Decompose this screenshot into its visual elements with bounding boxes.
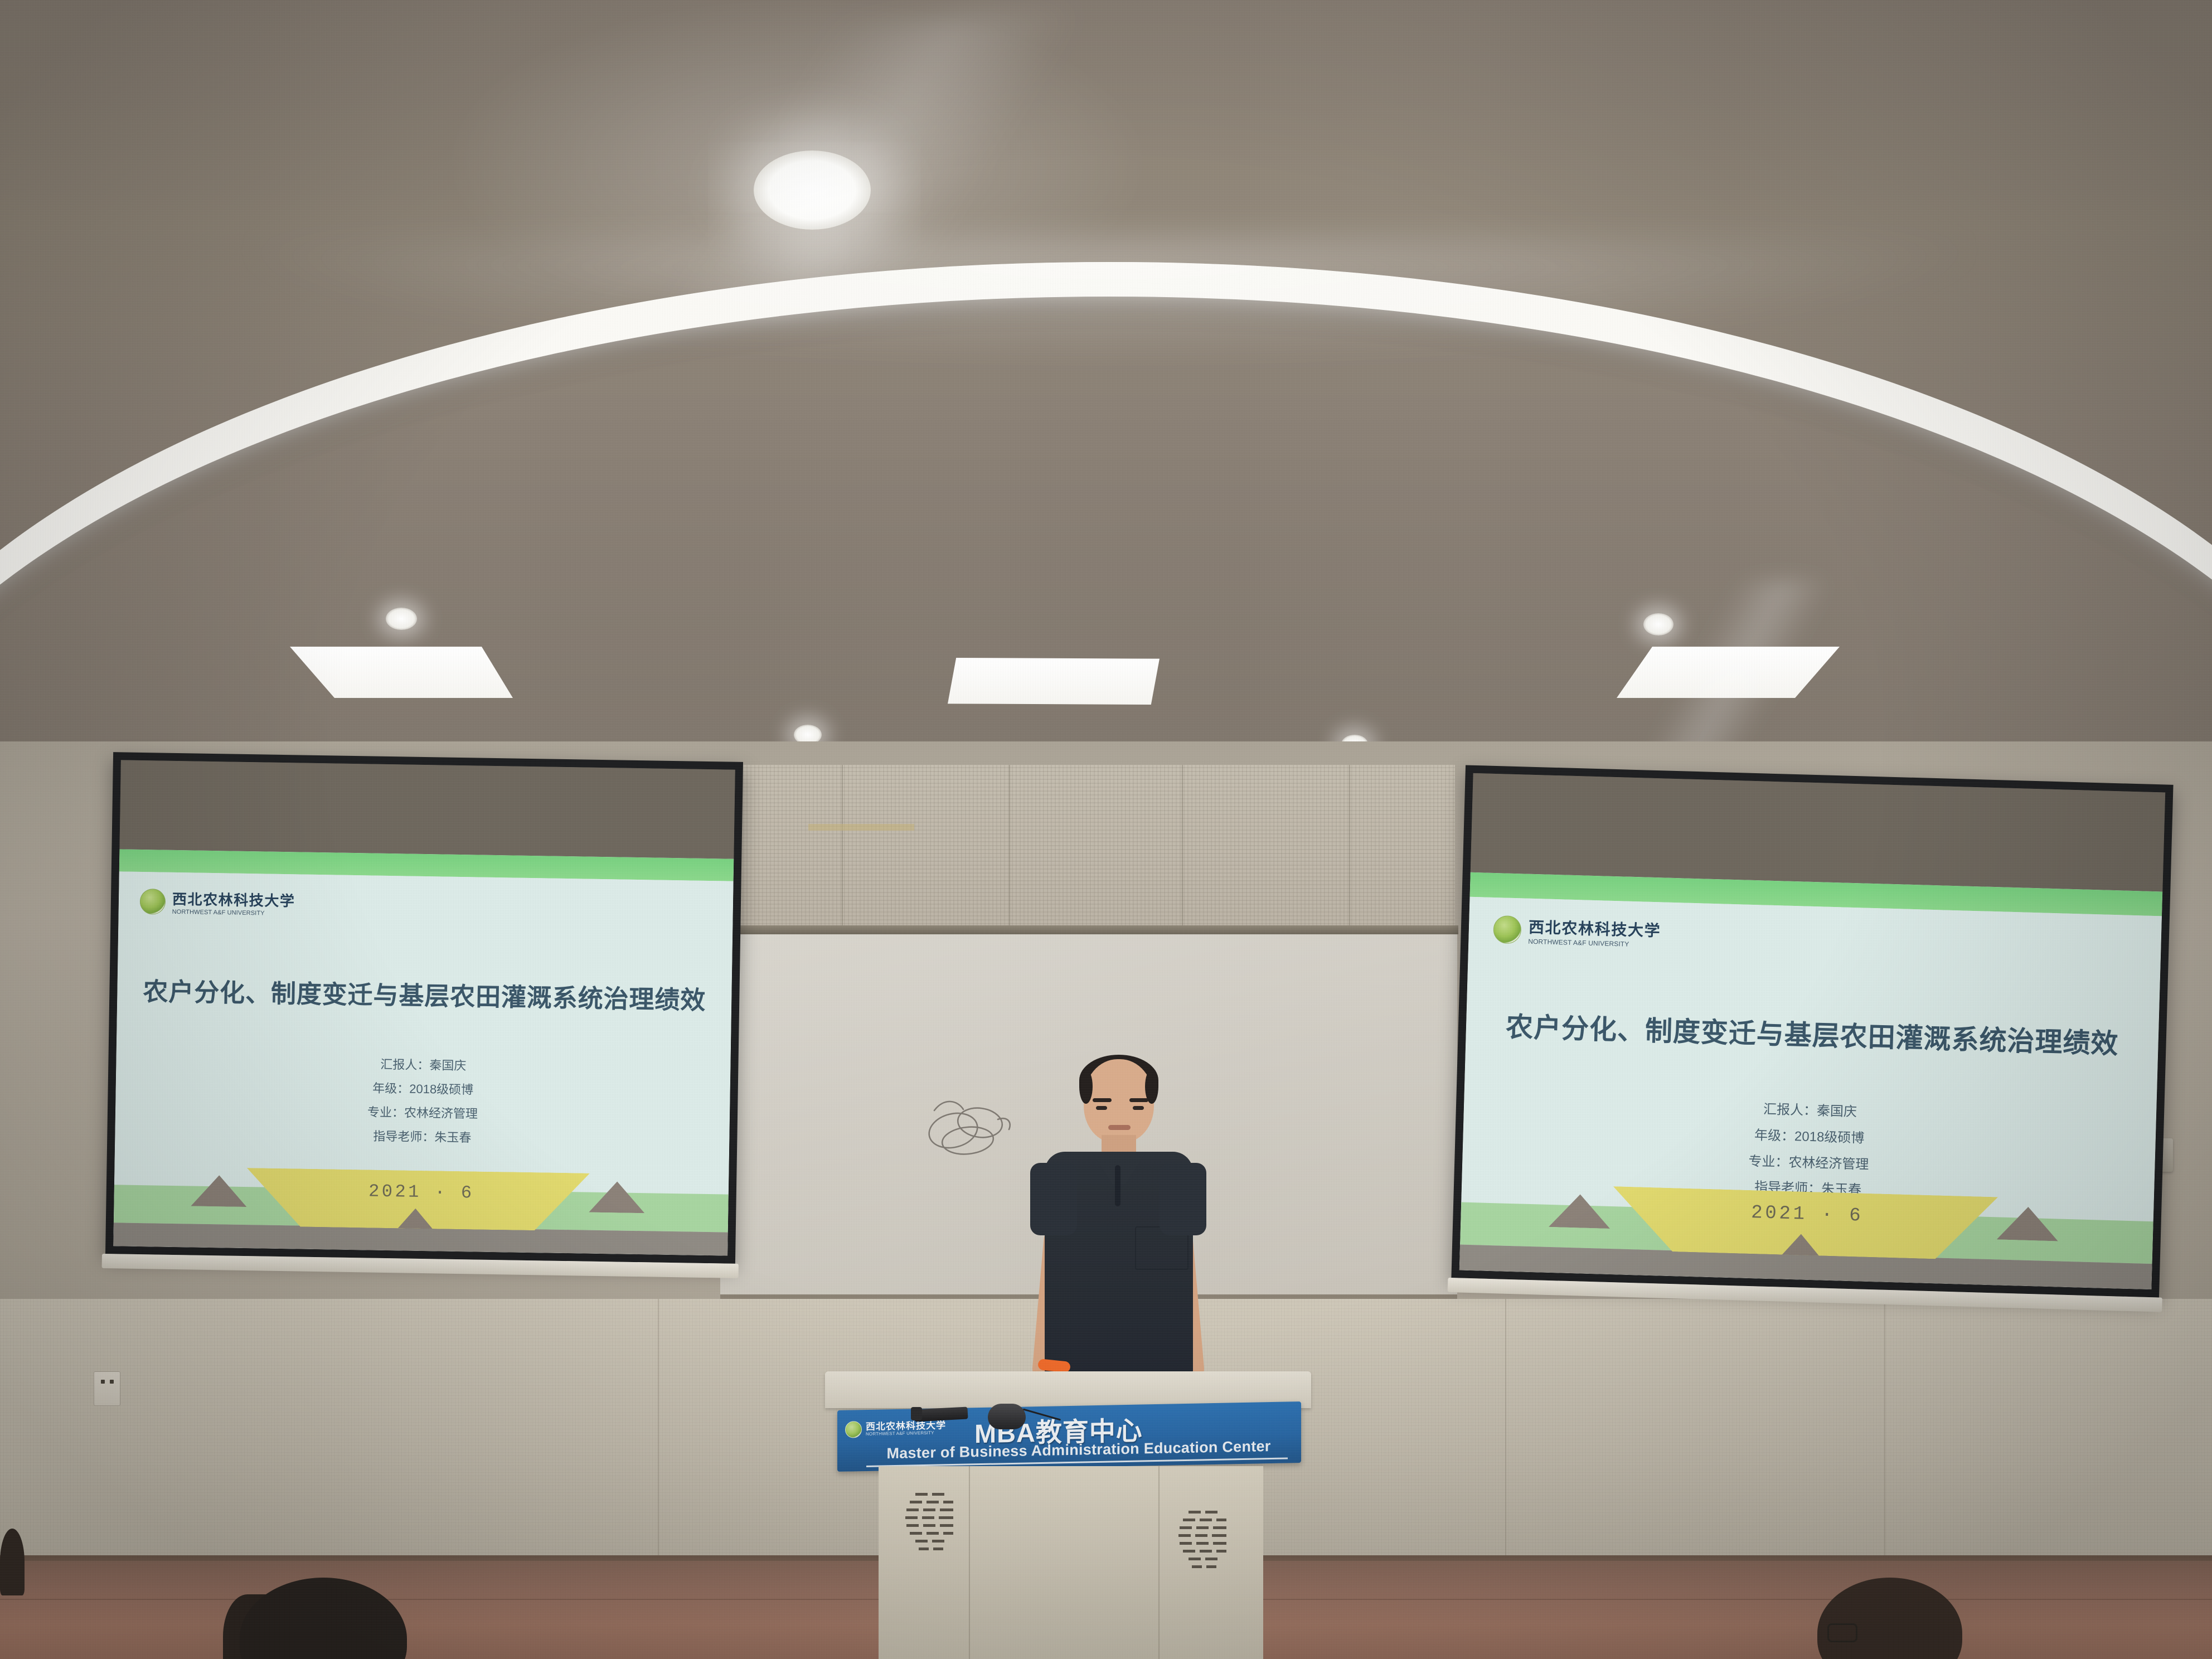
wall-power-outlet[interactable] xyxy=(94,1371,120,1406)
presenter-eye-left xyxy=(1096,1106,1107,1110)
acoustic-tape-mark xyxy=(808,824,914,831)
slide-footer-graphic: 2021 · 6 xyxy=(113,1146,729,1255)
screen-letterbox xyxy=(1471,773,2165,892)
university-seal-icon xyxy=(1493,915,1521,944)
speaker-grille-icon-right xyxy=(1174,1507,1236,1573)
presenter-eyebrow-right xyxy=(1129,1098,1148,1102)
podium-panel-seam xyxy=(969,1466,970,1659)
presentation-slide: 西北农林科技大学 NORTHWEST A&F UNIVERSITY 农户分化、制… xyxy=(113,849,734,1255)
university-name-cn: 西北农林科技大学 xyxy=(172,888,295,910)
university-seal-icon xyxy=(845,1421,862,1438)
presenter-eyebrow-left xyxy=(1093,1098,1112,1102)
slide-university-logo: 西北农林科技大学 NORTHWEST A&F UNIVERSITY xyxy=(1493,914,1661,949)
acoustic-seam xyxy=(1009,765,1010,932)
wainscot-seam xyxy=(658,1299,659,1566)
slide-university-logo: 西北农林科技大学 NORTHWEST A&F UNIVERSITY xyxy=(140,887,295,917)
slide-title: 农户分化、制度变迁与基层农田灌溉系统治理绩效 xyxy=(1466,1004,2158,1063)
acoustic-seam xyxy=(1349,765,1350,932)
wainscot-seam xyxy=(1505,1299,1506,1566)
university-seal-icon xyxy=(140,888,166,914)
downlight-icon-4 xyxy=(1643,613,1673,636)
lecture-hall-photo: 西北农林科技大学 NORTHWEST A&F UNIVERSITY 农户分化、制… xyxy=(0,0,2212,1659)
computer-mouse[interactable] xyxy=(988,1404,1026,1429)
slide-meta-block: 汇报人：秦国庆 年级：2018级硕博 专业：农林经济管理 指导老师：朱玉春 xyxy=(115,1049,731,1154)
acoustic-seam xyxy=(1182,765,1183,932)
podium-banner: 西北农林科技大学 NORTHWEST A&F UNIVERSITY MBA教育中… xyxy=(837,1401,1301,1472)
slide-footer-graphic: 2021 · 6 xyxy=(1459,1161,2155,1290)
presentation-remote-tip xyxy=(911,1407,922,1420)
led-panel-light-center xyxy=(948,658,1160,705)
slide-body: 西北农林科技大学 NORTHWEST A&F UNIVERSITY 农户分化、制… xyxy=(1459,897,2162,1289)
podium-logo-en: NORTHWEST A&F UNIVERSITY xyxy=(866,1430,946,1437)
left-projection-screen[interactable]: 西北农林科技大学 NORTHWEST A&F UNIVERSITY 农户分化、制… xyxy=(105,752,743,1264)
downlight-icon-1 xyxy=(386,608,417,630)
acoustic-seam xyxy=(842,765,843,932)
screen-surface: 西北农林科技大学 NORTHWEST A&F UNIVERSITY 农户分化、制… xyxy=(113,760,735,1255)
podium-panel-seam xyxy=(1158,1466,1160,1659)
ceiling-downlight-icon xyxy=(754,151,871,230)
acoustic-panel-band xyxy=(719,765,1455,932)
presenter-eye-right xyxy=(1133,1106,1144,1110)
acoustic-panel-rail xyxy=(717,925,1458,934)
presenter-mouth xyxy=(1108,1125,1131,1130)
right-projection-screen[interactable]: 西北农林科技大学 NORTHWEST A&F UNIVERSITY 农户分化、制… xyxy=(1451,765,2173,1297)
speaker-grille-icon-left xyxy=(901,1490,963,1555)
podium[interactable]: 西北农林科技大学 NORTHWEST A&F UNIVERSITY MBA教育中… xyxy=(825,1371,1311,1659)
whiteboard-scribble xyxy=(914,1087,1037,1171)
screen-letterbox xyxy=(119,760,735,858)
podium-logo: 西北农林科技大学 NORTHWEST A&F UNIVERSITY xyxy=(845,1419,946,1438)
presenter-sleeve-left xyxy=(1030,1163,1077,1235)
university-name-cn: 西北农林科技大学 xyxy=(1529,915,1661,942)
university-name-en: NORTHWEST A&F UNIVERSITY xyxy=(172,909,295,917)
presenter-placket xyxy=(1115,1165,1120,1206)
slide-title: 农户分化、制度变迁与基层农田灌溉系统治理绩效 xyxy=(117,971,732,1016)
slide-body: 西北农林科技大学 NORTHWEST A&F UNIVERSITY 农户分化、制… xyxy=(113,871,733,1255)
curved-cove-light xyxy=(0,262,2212,819)
screen-surface: 西北农林科技大学 NORTHWEST A&F UNIVERSITY 农户分化、制… xyxy=(1459,773,2165,1289)
presentation-slide: 西北农林科技大学 NORTHWEST A&F UNIVERSITY 农户分化、制… xyxy=(1459,872,2162,1289)
wainscot-seam xyxy=(1884,1299,1885,1566)
audience-head-far-left xyxy=(0,1529,25,1595)
audience-glasses-icon xyxy=(1827,1623,1857,1642)
presenter-hair-side-left xyxy=(1079,1069,1093,1104)
presenter-sleeve-right xyxy=(1160,1163,1206,1235)
